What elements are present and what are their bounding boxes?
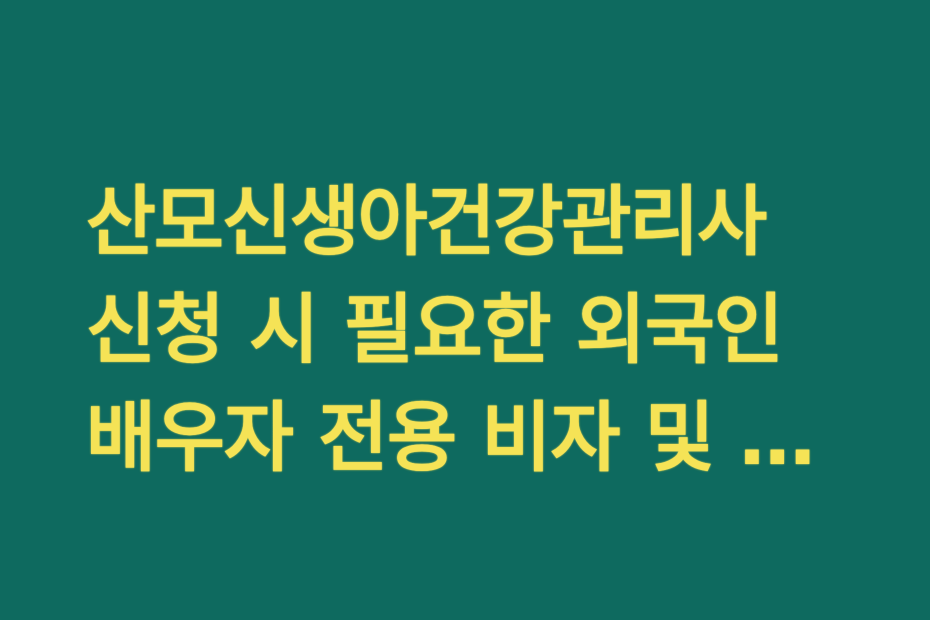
headline-line-3: 배우자 전용 비자 및 … — [86, 384, 886, 492]
thumbnail-card: 산모신생아건강관리사 신청 시 필요한 외국인 배우자 전용 비자 및 … — [0, 0, 930, 620]
headline-line-2: 신청 시 필요한 외국인 — [86, 276, 886, 384]
headline-block: 산모신생아건강관리사 신청 시 필요한 외국인 배우자 전용 비자 및 … — [86, 168, 886, 492]
headline-line-1: 산모신생아건강관리사 — [86, 168, 886, 276]
